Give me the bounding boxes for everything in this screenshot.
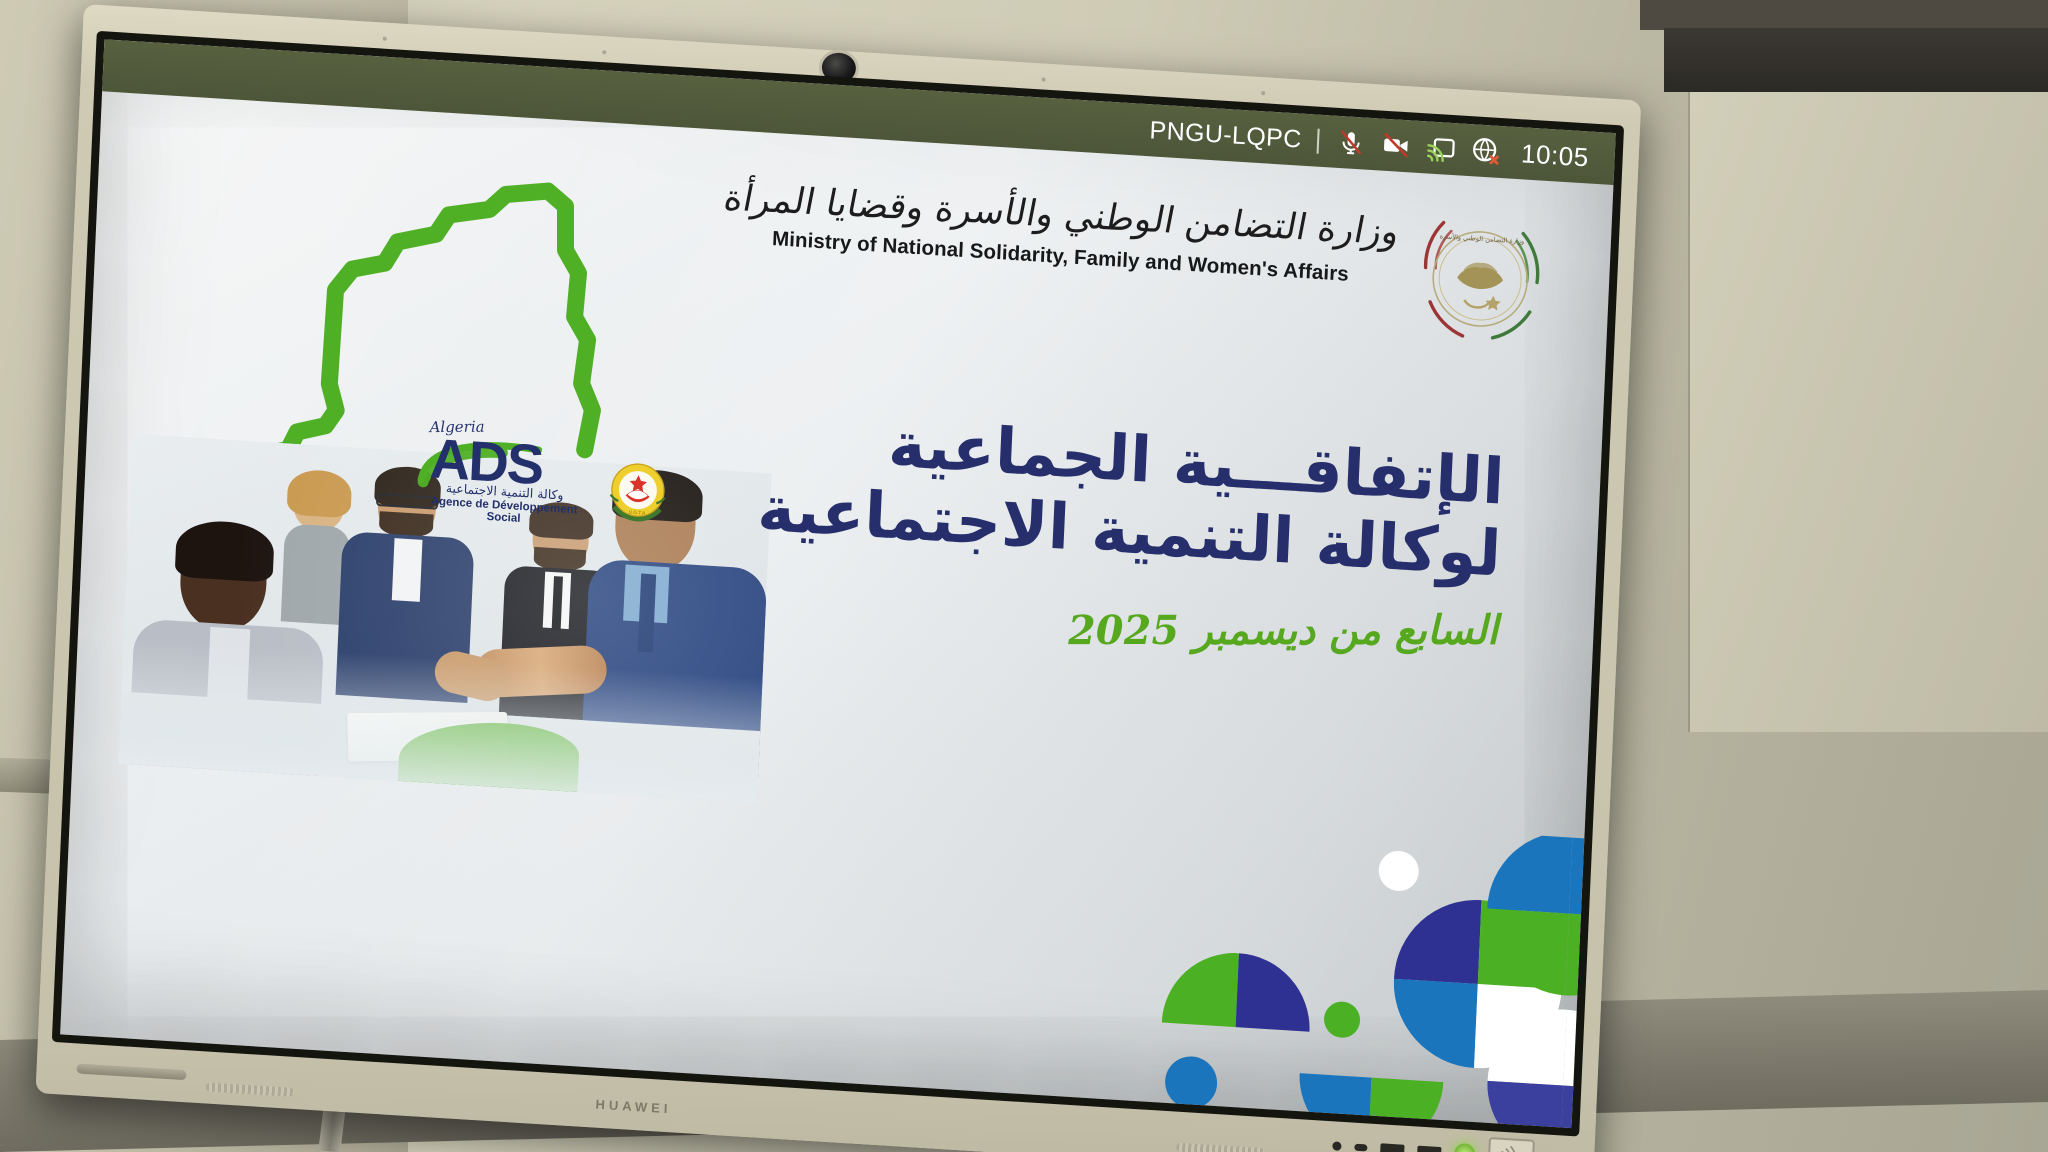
camera-off-icon[interactable] <box>1380 129 1412 162</box>
presentation-slide[interactable]: PNGU-LQPC <box>60 39 1616 1128</box>
microphone-muted-icon[interactable] <box>1335 126 1367 159</box>
screen-cast-icon[interactable] <box>1425 132 1457 165</box>
interactive-display[interactable]: PNGU-LQPC <box>36 4 1642 1152</box>
ads-logo: Algeria ADS وكالة التنمية الاجتماعية Age… <box>413 419 597 529</box>
svg-text:وزارة التضامن الوطني والأسرة: وزارة التضامن الوطني والأسرة <box>1440 231 1525 245</box>
quadrant-circles-decoration <box>1142 812 1584 1128</box>
deco-dot-blue <box>1164 1055 1218 1110</box>
wall-panel-seam <box>1688 92 2048 732</box>
usb-a-port-2[interactable] <box>1417 1146 1441 1152</box>
ministry-header: وزارة التضامن الوطني والأسرة وقضايا المر… <box>723 174 1400 290</box>
ads-acronym: ADS <box>415 429 597 496</box>
clock-label: 10:05 <box>1521 138 1590 173</box>
usb-c-port[interactable] <box>1354 1143 1367 1151</box>
status-separator <box>1317 128 1320 153</box>
ugta-union-emblem: U.G.T.A <box>599 454 676 533</box>
usb-a-port-1[interactable] <box>1380 1143 1404 1152</box>
slide-title-block: الإتفاقـــية الجماعية لوكالة التنمية الا… <box>753 401 1505 654</box>
wall-top-trim <box>1640 0 2048 30</box>
deco-dot-green <box>1323 1001 1361 1039</box>
logo-group: Algeria ADS وكالة التنمية الاجتماعية Age… <box>413 419 717 536</box>
power-button[interactable] <box>1454 1142 1476 1152</box>
deco-dot-white <box>1378 850 1420 892</box>
slide-date: السابع من ديسمبر 2025 <box>753 606 1498 654</box>
network-disconnected-icon[interactable] <box>1470 135 1502 168</box>
room-scene: PNGU-LQPC <box>0 0 2048 1152</box>
device-name-label: PNGU-LQPC <box>1149 116 1302 154</box>
svg-text:U.G.T.A: U.G.T.A <box>628 510 646 517</box>
nfc-sensor-icon[interactable] <box>1487 1137 1535 1152</box>
audio-jack-port[interactable] <box>1332 1141 1341 1151</box>
ministry-emblem: وزارة التضامن الوطني والأسرة <box>1408 205 1552 351</box>
wall-mounted-board <box>1664 28 2048 92</box>
